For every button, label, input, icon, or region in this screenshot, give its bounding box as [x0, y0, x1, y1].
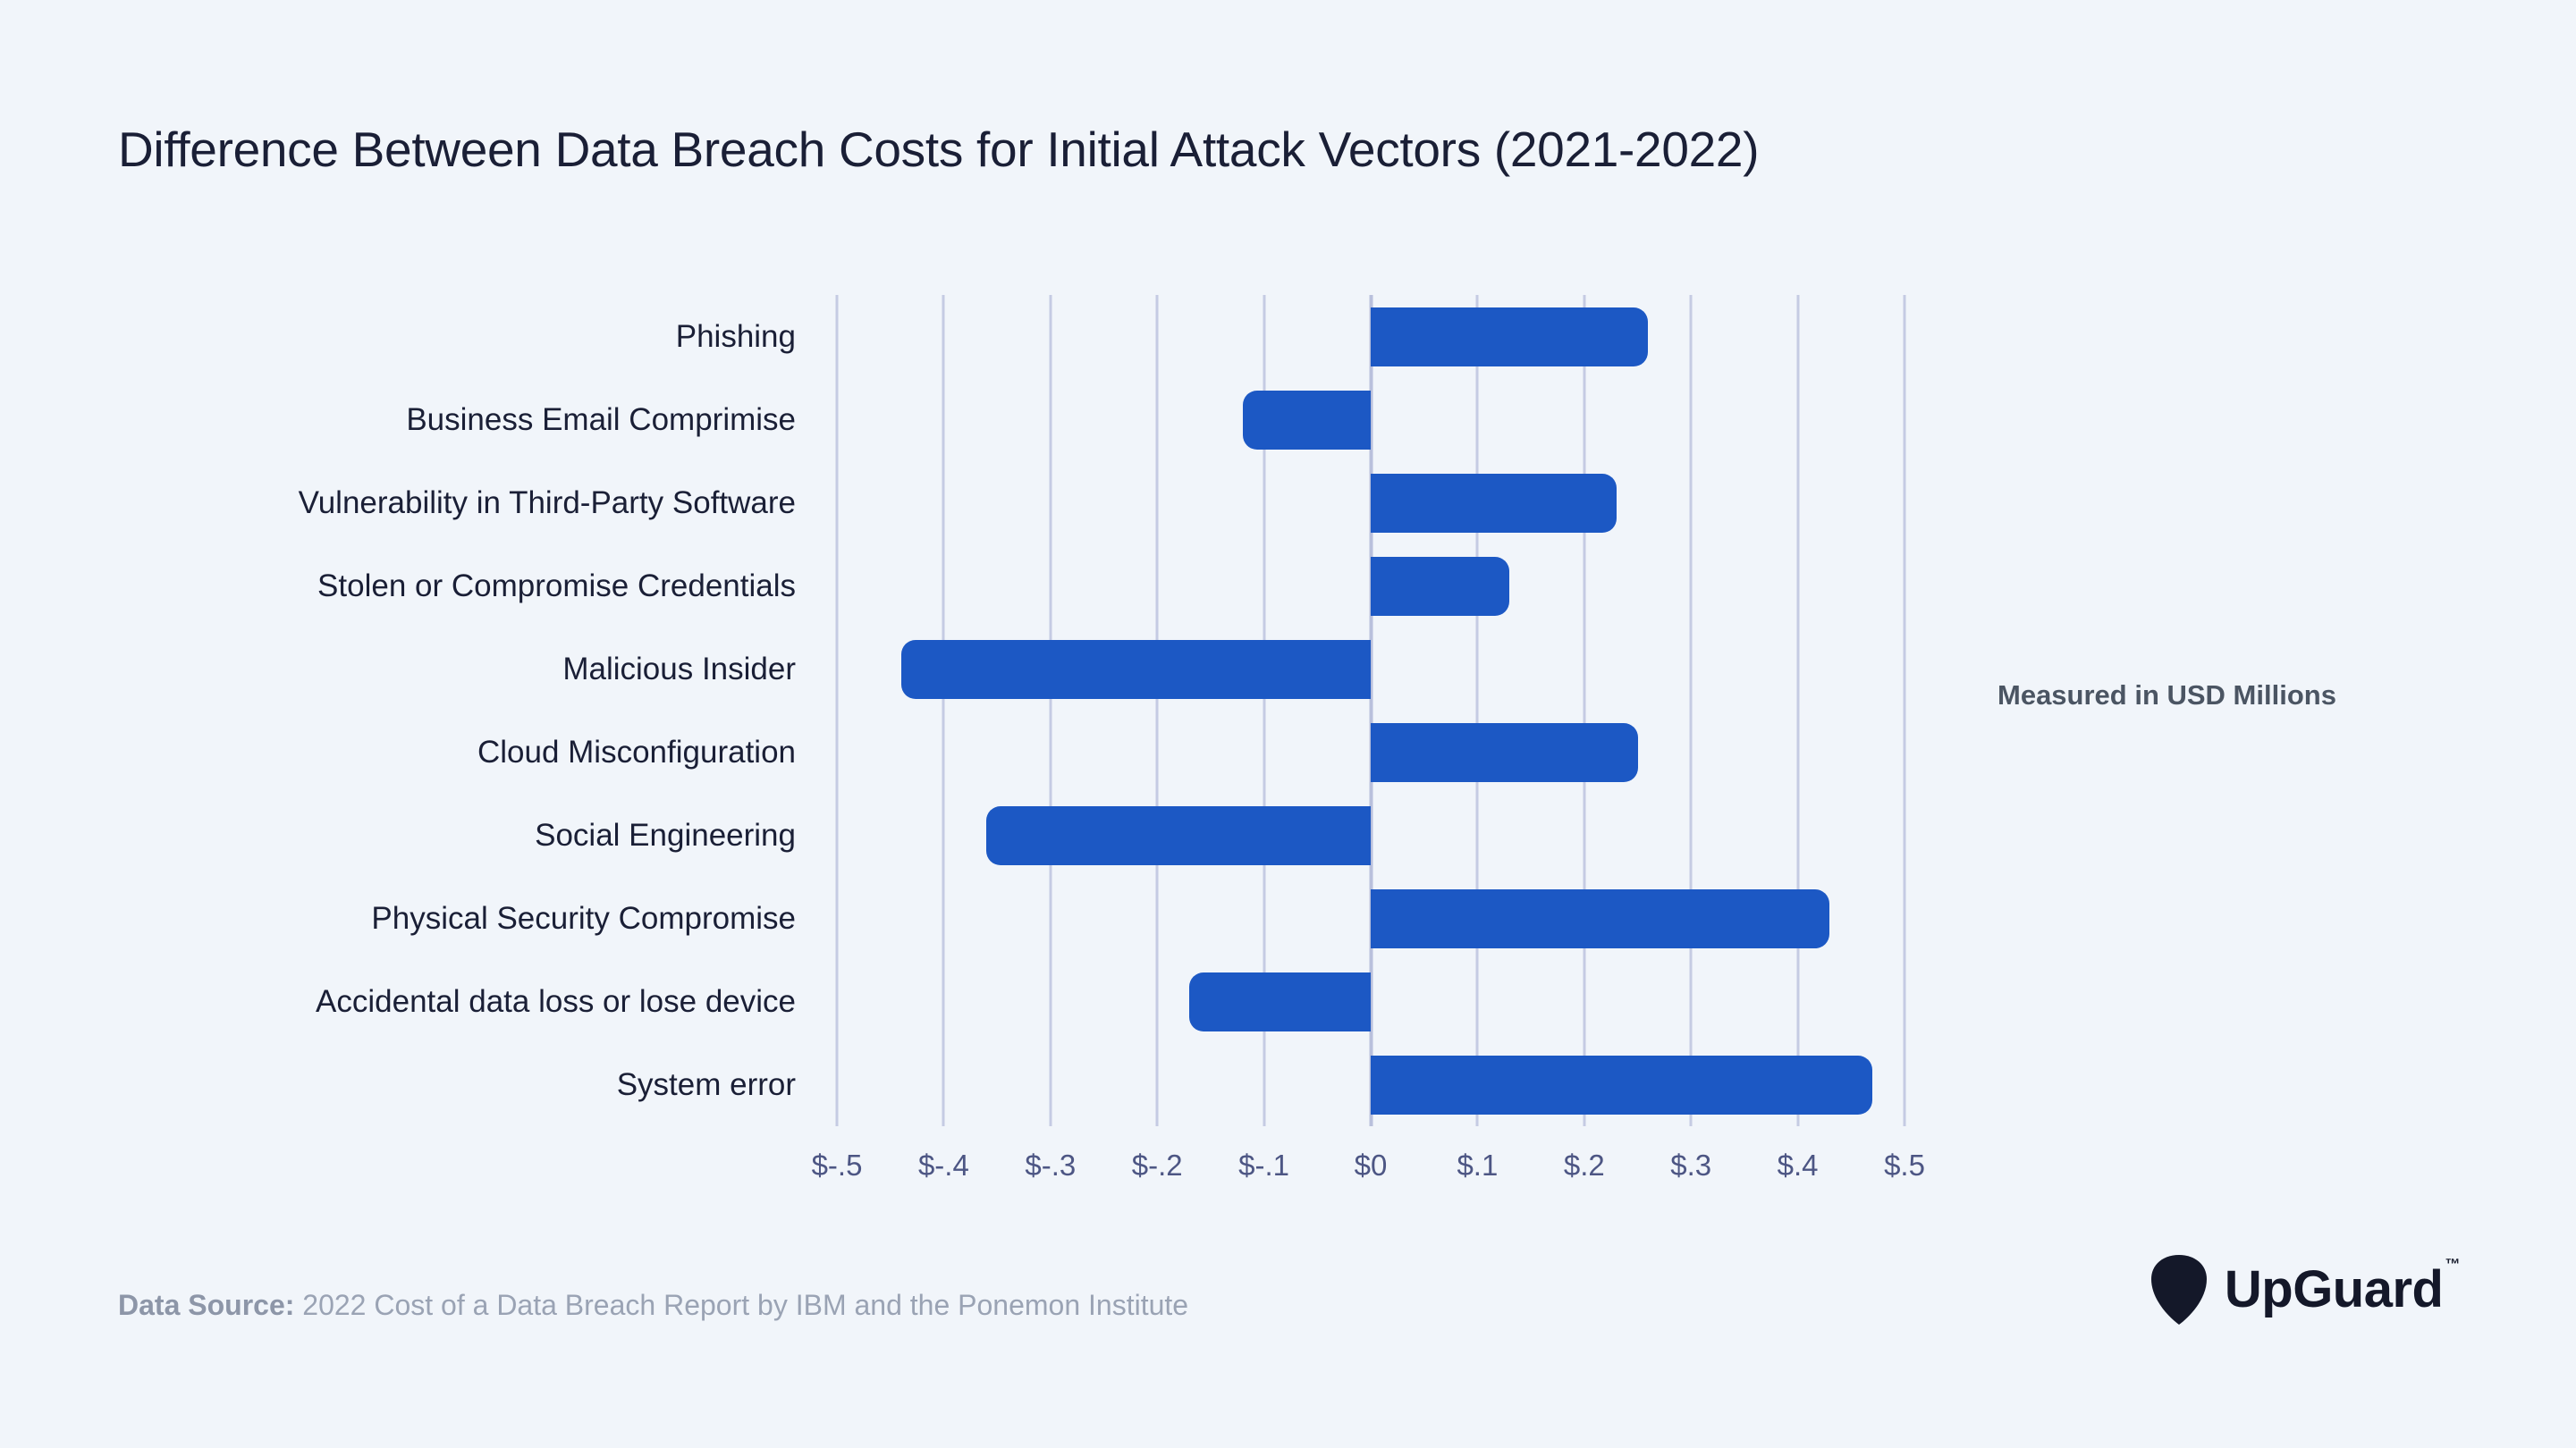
bar — [1371, 723, 1638, 782]
x-axis-tick-label: $-.4 — [918, 1149, 969, 1183]
x-axis-tick-label: $0 — [1355, 1149, 1388, 1183]
x-axis-tick-label: $-.5 — [812, 1149, 863, 1183]
y-axis-label: Business Email Comprimise — [0, 402, 796, 438]
bar — [1371, 1056, 1872, 1115]
data-source-note: Data Source: 2022 Cost of a Data Breach … — [118, 1289, 1188, 1322]
gridline — [1690, 295, 1693, 1126]
gridline — [1904, 295, 1906, 1126]
y-axis-labels: PhishingBusiness Email ComprimiseVulnera… — [0, 295, 796, 1126]
x-axis-tick-label: $-.3 — [1025, 1149, 1076, 1183]
bars-and-grid — [837, 295, 1905, 1126]
y-axis-label: Phishing — [0, 319, 796, 355]
x-axis-tick-label: $-.2 — [1132, 1149, 1183, 1183]
logo-trademark: ™ — [2445, 1256, 2461, 1273]
bar — [901, 640, 1371, 699]
bar — [1371, 474, 1617, 533]
y-axis-label: Social Engineering — [0, 818, 796, 854]
gridline — [1583, 295, 1585, 1126]
logo-name: UpGuard — [2225, 1260, 2444, 1318]
x-axis-tick-label: $.4 — [1778, 1149, 1819, 1183]
units-note: Measured in USD Millions — [1997, 679, 2336, 711]
x-axis-tick-label: $.2 — [1564, 1149, 1605, 1183]
bar — [1189, 972, 1371, 1031]
y-axis-label: Accidental data loss or lose device — [0, 984, 796, 1020]
bar — [1371, 889, 1829, 948]
data-source-label: Data Source: — [118, 1289, 294, 1321]
data-source-text: 2022 Cost of a Data Breach Report by IBM… — [294, 1289, 1188, 1321]
bar — [986, 806, 1371, 865]
y-axis-label: Physical Security Compromise — [0, 901, 796, 937]
gridline — [1476, 295, 1479, 1126]
y-axis-label: Stolen or Compromise Credentials — [0, 568, 796, 604]
x-axis-tick-label: $.1 — [1457, 1149, 1498, 1183]
bar — [1371, 307, 1648, 366]
x-axis-ticks: $-.5$-.4$-.3$-.2$-.1$0$.1$.2$.3$.4$.5 — [837, 1149, 1905, 1202]
gridline — [1156, 295, 1159, 1126]
y-axis-label: System error — [0, 1067, 796, 1103]
x-axis-tick-label: $.3 — [1670, 1149, 1711, 1183]
guitar-pick-shield-icon — [2149, 1255, 2209, 1325]
upguard-logo: UpGuard™ — [2149, 1251, 2458, 1328]
gridline — [836, 295, 839, 1126]
gridline — [1796, 295, 1799, 1126]
gridline — [942, 295, 945, 1126]
gridline — [1049, 295, 1052, 1126]
logo-wordmark: UpGuard™ — [2225, 1264, 2458, 1316]
x-axis-tick-label: $.5 — [1884, 1149, 1925, 1183]
y-axis-label: Cloud Misconfiguration — [0, 735, 796, 770]
page-title: Difference Between Data Breach Costs for… — [118, 121, 1759, 178]
x-axis-tick-label: $-.1 — [1238, 1149, 1289, 1183]
bar — [1371, 557, 1509, 616]
y-axis-label: Malicious Insider — [0, 652, 796, 687]
chart-page: Difference Between Data Breach Costs for… — [0, 0, 2576, 1448]
bar — [1243, 391, 1371, 450]
y-axis-label: Vulnerability in Third-Party Software — [0, 485, 796, 521]
